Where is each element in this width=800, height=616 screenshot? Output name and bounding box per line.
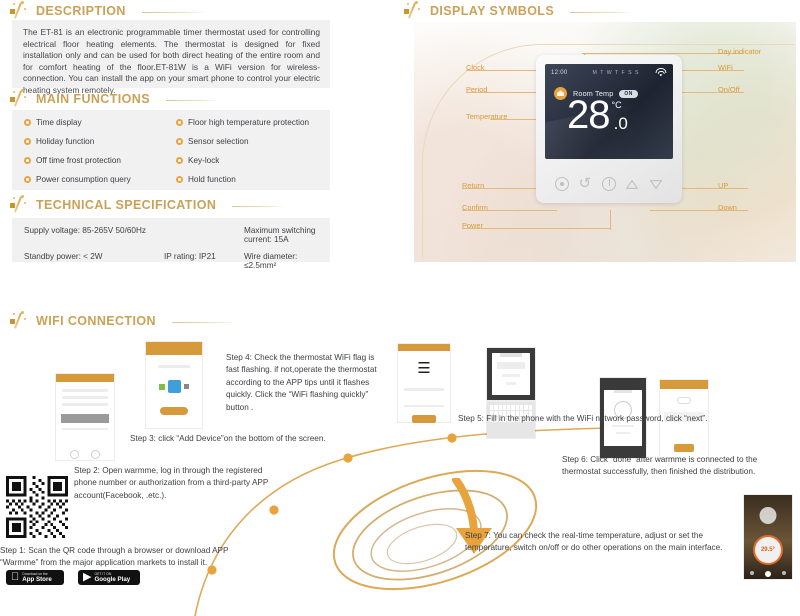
bullet-icon — [24, 119, 31, 126]
google-play-icon: ▶ — [83, 572, 91, 583]
google-play-badge-large: Google Play — [94, 576, 130, 583]
down-button[interactable] — [649, 177, 663, 191]
label-confirm: Confirm — [462, 203, 488, 212]
power-button[interactable] — [602, 177, 616, 191]
step-1-text: Step 1: Scan the QR code through a brows… — [0, 545, 230, 570]
thermostat-button-row — [536, 177, 682, 191]
spec-cell: IP rating: IP21 — [164, 252, 244, 270]
spec-cell: Maximum switching current: 15A — [244, 226, 320, 244]
section-title-description: DESCRIPTION — [36, 4, 126, 18]
screen-day-indicator: M T W T F S S — [577, 70, 655, 76]
section-header-display-symbols: DISPLAY SYMBOLS — [402, 0, 634, 22]
callout-tick — [610, 210, 611, 230]
qr-code — [6, 476, 68, 538]
display-symbols-diagram: Clock Period Temperature Return Confirm … — [414, 22, 796, 262]
section-header-technical-specification: TECHNICAL SPECIFICATION — [8, 194, 284, 216]
label-onoff: On/Off — [718, 85, 740, 94]
phone-mockup-login — [56, 374, 114, 460]
label-return: Return — [462, 181, 484, 190]
function-item: Sensor selection — [176, 137, 322, 146]
header-rule — [232, 206, 284, 207]
section-title-main-functions: MAIN FUNCTIONS — [36, 92, 150, 106]
section-header-main-functions: MAIN FUNCTIONS — [8, 88, 218, 110]
description-body: The ET-81 is an electronic programmable … — [23, 27, 320, 97]
screen-clock: 12:00 — [551, 70, 577, 76]
sparkle-icon — [402, 0, 424, 22]
label-up: UP — [718, 181, 728, 190]
main-functions-panel: Time display Floor high temperature prot… — [12, 110, 330, 190]
temperature-decimal: .0 — [614, 114, 628, 134]
function-item: Hold function — [176, 175, 322, 184]
function-label: Sensor selection — [188, 137, 249, 146]
spec-cell: Standby power: < 2W — [24, 252, 164, 270]
callout-line-wifi — [672, 70, 744, 71]
step-2-text: Step 2: Open warmme, log in through the … — [74, 465, 274, 502]
google-play-badge[interactable]: ▶ GET IT ON Google Play — [78, 570, 140, 585]
function-label: Floor high temperature protection — [188, 118, 309, 127]
google-play-badge-small: GET IT ON — [94, 572, 130, 576]
function-label: Power consumption query — [36, 175, 131, 184]
step-5-text: Step 5: Fill in the phone with the WiFi … — [458, 413, 758, 425]
step-4-text: Step 4: Check the thermostat WiFi flag i… — [226, 352, 386, 414]
phone-mockup-wifi-flag: ☰ — [398, 344, 450, 422]
thermostat-screen: 12:00 M T W T F S S Room Temp ON 28 °C .… — [545, 64, 673, 159]
header-rule — [166, 100, 218, 101]
app-store-badge-large: App Store — [22, 576, 52, 583]
label-wifi: WiFi — [718, 63, 733, 72]
function-label: Time display — [36, 118, 82, 127]
label-clock: Clock — [466, 63, 484, 72]
label-down: Down — [718, 203, 737, 212]
function-item: Holiday function — [24, 137, 170, 146]
technical-specification-panel: Supply voltage: 85-265V 50/60Hz Maximum … — [12, 218, 330, 262]
step-6-text: Step 6: Click “done” after warmme is con… — [562, 454, 762, 479]
home-icon — [554, 87, 567, 100]
bullet-icon — [176, 176, 183, 183]
function-label: Holiday function — [36, 137, 94, 146]
function-label: Key-lock — [188, 156, 219, 165]
temperature-unit: °C — [612, 100, 622, 110]
screen-onoff-badge: ON — [619, 90, 638, 98]
header-rule — [172, 322, 236, 323]
label-temperature: Temperature — [466, 112, 508, 121]
bullet-icon — [24, 176, 31, 183]
screen-status-bar: 12:00 M T W T F S S — [545, 68, 673, 77]
step-3-text: Step 3: click “Add Device”on the bottom … — [130, 433, 380, 445]
label-period: Period — [466, 85, 487, 94]
sparkle-icon — [8, 0, 30, 22]
main-functions-grid: Time display Floor high temperature prot… — [24, 118, 322, 184]
up-button[interactable] — [625, 177, 639, 191]
bullet-icon — [176, 119, 183, 126]
wifi-icon: ☰ — [398, 361, 450, 376]
function-item: Time display — [24, 118, 170, 127]
function-item: Floor high temperature protection — [176, 118, 322, 127]
app-temperature-readout: 29.5° — [761, 547, 775, 553]
function-item: Key-lock — [176, 156, 322, 165]
spec-cell: Wire diameter: ≤2.5mm² — [244, 252, 320, 270]
spec-cell: Supply voltage: 85-265V 50/60Hz — [24, 226, 164, 244]
description-panel: The ET-81 is an electronic programmable … — [12, 20, 330, 88]
section-title-technical-specification: TECHNICAL SPECIFICATION — [36, 198, 216, 212]
section-title-display-symbols: DISPLAY SYMBOLS — [430, 4, 554, 18]
bullet-icon — [176, 157, 183, 164]
section-title-wifi-connection: WIFI CONNECTION — [36, 314, 156, 328]
label-power: Power — [462, 221, 483, 230]
phone-mockup-main-interface: 29.5° — [744, 495, 792, 579]
header-rule — [142, 12, 206, 13]
wifi-connection-section: ☰ — [0, 330, 800, 616]
header-rule — [570, 12, 634, 13]
sparkle-icon — [8, 310, 30, 332]
spec-row: Supply voltage: 85-265V 50/60Hz Maximum … — [24, 226, 320, 244]
product-manual-page: DESCRIPTION The ET-81 is an electronic p… — [0, 0, 800, 616]
sparkle-icon — [8, 194, 30, 216]
phone-mockup-add-device — [146, 342, 202, 428]
function-label: Off time frost protection — [36, 156, 121, 165]
spec-cell — [164, 226, 244, 244]
function-label: Hold function — [188, 175, 236, 184]
app-store-badge-small: Download on the — [22, 572, 52, 576]
apple-icon:  — [11, 572, 19, 583]
function-item: Off time frost protection — [24, 156, 170, 165]
label-day-indicator: Day indicator — [718, 47, 761, 56]
spec-row: Standby power: < 2W IP rating: IP21 Wire… — [24, 252, 320, 270]
confirm-button[interactable] — [555, 177, 569, 191]
thermostat-device: 12:00 M T W T F S S Room Temp ON 28 °C .… — [536, 55, 682, 203]
bullet-icon — [24, 138, 31, 145]
temperature-integer: 28 — [567, 98, 610, 132]
screen-temperature: 28 °C .0 — [567, 98, 628, 134]
section-header-description: DESCRIPTION — [8, 0, 206, 22]
bullet-icon — [24, 157, 31, 164]
phone-mockup-password — [487, 348, 535, 400]
section-header-wifi-connection: WIFI CONNECTION — [8, 310, 236, 332]
wifi-icon — [655, 68, 667, 77]
app-store-badge[interactable]:  Download on the App Store — [6, 570, 64, 585]
bullet-icon — [176, 138, 183, 145]
step-7-text: Step 7: You can check the real-time temp… — [465, 530, 740, 555]
return-button[interactable] — [579, 177, 593, 191]
function-item: Power consumption query — [24, 175, 170, 184]
callout-line-power — [462, 228, 610, 229]
sparkle-icon — [8, 88, 30, 110]
